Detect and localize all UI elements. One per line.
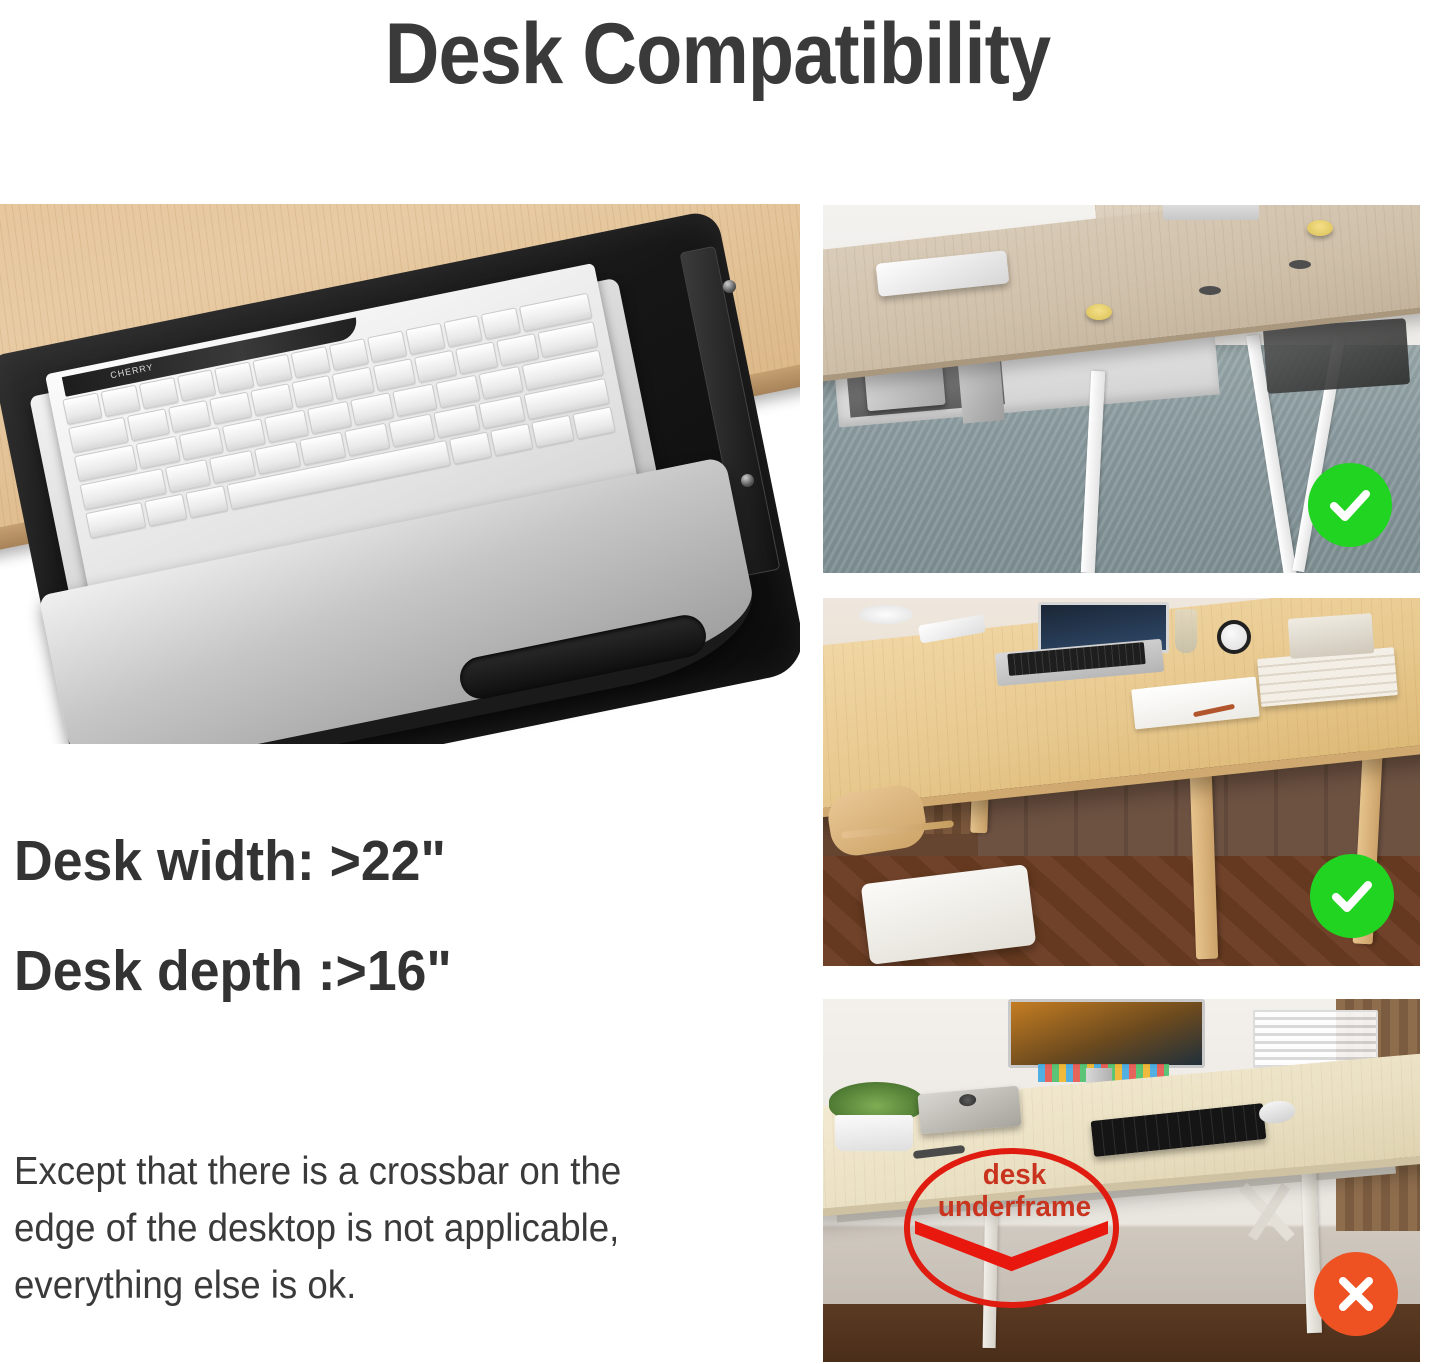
keyboard-key bbox=[307, 401, 352, 435]
keyboard-key bbox=[449, 431, 492, 464]
keyboard-key bbox=[176, 369, 216, 402]
status-badge-compatible bbox=[1310, 854, 1394, 938]
panel-office-desk bbox=[823, 205, 1420, 573]
keyboard-key bbox=[496, 333, 539, 366]
keyboard-key bbox=[136, 436, 181, 470]
spec-desk-depth: Desk depth :>16" bbox=[14, 940, 452, 1002]
keyboard-key bbox=[186, 485, 229, 518]
keyboard-key bbox=[350, 392, 395, 426]
keyboard-key bbox=[221, 418, 266, 452]
keyboard-key bbox=[145, 493, 188, 526]
keyboard-key bbox=[443, 315, 483, 348]
panel-wood-desk bbox=[823, 598, 1420, 966]
panel-underframe-desk: desk underframe bbox=[823, 999, 1420, 1362]
keyboard-key bbox=[490, 423, 533, 456]
keyboard-key bbox=[291, 375, 334, 408]
hero-product-photo bbox=[0, 204, 800, 744]
office-chair bbox=[1263, 318, 1411, 394]
keyboard-key bbox=[100, 385, 140, 418]
cable-grommet bbox=[1199, 286, 1221, 295]
keyboard-key bbox=[253, 354, 293, 387]
left-column: Desk width: >22" Desk depth :>16" Except… bbox=[0, 118, 800, 1364]
keyboard-key bbox=[436, 375, 481, 409]
keyboard-key bbox=[481, 307, 521, 340]
cross-icon bbox=[1330, 1268, 1382, 1320]
monitor-screen bbox=[1008, 999, 1205, 1068]
coffee-cup bbox=[1307, 220, 1333, 236]
keyboard-key bbox=[138, 377, 178, 410]
keyboard-key bbox=[215, 361, 255, 394]
wireless-charger bbox=[859, 605, 913, 623]
keyboard-key bbox=[250, 383, 293, 416]
keyboard-key bbox=[455, 341, 498, 374]
alarm-clock bbox=[1217, 620, 1251, 654]
keyboard-key bbox=[329, 338, 369, 371]
keyboard-key bbox=[367, 330, 407, 363]
status-badge-not-compatible bbox=[1314, 1252, 1398, 1336]
rail-screw-icon bbox=[741, 474, 754, 487]
plant-pot bbox=[835, 1115, 913, 1151]
monitor bbox=[1163, 205, 1259, 220]
keyboard-key bbox=[62, 392, 102, 425]
keyboard-key bbox=[178, 427, 223, 461]
keyboard-tray-illustration bbox=[0, 204, 800, 744]
keyboard-key bbox=[127, 408, 170, 441]
keyboard-key bbox=[291, 346, 331, 379]
status-badge-compatible bbox=[1308, 463, 1392, 547]
keyboard-key bbox=[393, 383, 438, 417]
disclaimer-text: Except that there is a crossbar on the e… bbox=[14, 1143, 710, 1314]
keyboard-key bbox=[168, 400, 211, 433]
check-icon bbox=[1326, 870, 1378, 922]
keyboard-key bbox=[478, 366, 523, 400]
keyboard-key bbox=[405, 323, 445, 356]
keyboard-key bbox=[531, 415, 574, 448]
cable-grommet bbox=[1289, 260, 1311, 269]
mini-pc bbox=[917, 1085, 1022, 1134]
keyboard-key bbox=[264, 410, 309, 444]
rail-screw-icon bbox=[723, 280, 736, 293]
check-icon bbox=[1324, 479, 1376, 531]
keyboard-key bbox=[373, 358, 416, 391]
underframe-annotation-label: desk underframe bbox=[917, 1159, 1112, 1223]
infographic-page: Desk Compatibility bbox=[0, 0, 1435, 1364]
keyboard-key bbox=[572, 406, 615, 439]
glass-vase bbox=[1175, 609, 1197, 653]
keyboard-key bbox=[209, 392, 252, 425]
keyboard-key bbox=[414, 350, 457, 383]
computer-tower bbox=[957, 350, 1005, 423]
page-title: Desk Compatibility bbox=[86, 6, 1349, 102]
speaker bbox=[1287, 614, 1373, 660]
keyboard-key bbox=[332, 367, 375, 400]
spec-desk-width: Desk width: >22" bbox=[14, 830, 446, 892]
